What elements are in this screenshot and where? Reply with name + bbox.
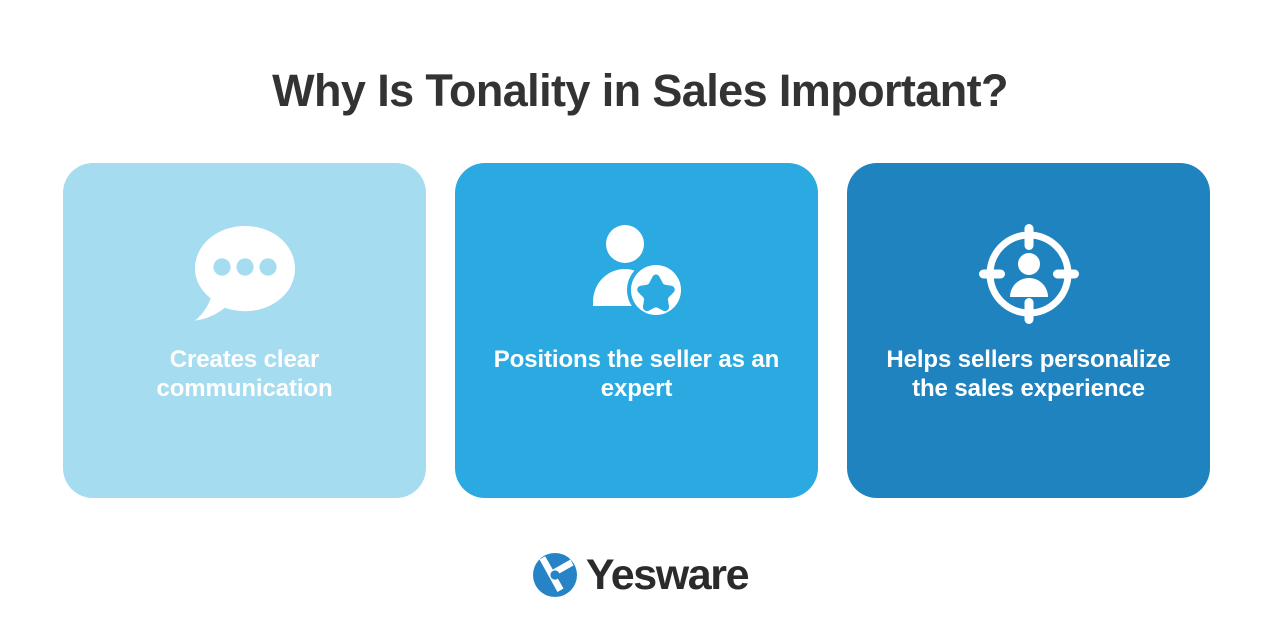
card-icon-container [63,221,426,326]
infographic-page: Why Is Tonality in Sales Important? Crea… [0,0,1280,641]
speech-bubble-dots-icon [193,224,297,324]
page-title: Why Is Tonality in Sales Important? [0,62,1280,120]
card-icon-container [455,221,818,326]
benefit-card-positions-seller-as-expert: Positions the seller as an expert [455,163,818,498]
card-label: Creates clear communication [83,345,406,403]
benefit-card-helps-sellers-personalize: Helps sellers personalize the sales expe… [847,163,1210,498]
yesware-wordmark: Yesware [586,552,748,598]
card-label: Helps sellers personalize the sales expe… [867,345,1190,403]
card-icon-container [847,221,1210,326]
yesware-logo: Yesware [0,545,1280,605]
benefit-card-creates-clear-communication: Creates clear communication [63,163,426,498]
card-label: Positions the seller as an expert [475,345,798,403]
yesware-y-circle-icon [532,552,578,598]
benefit-cards-row: Creates clear communication Positions th… [63,163,1210,498]
person-star-badge-icon [587,224,687,324]
target-person-icon [977,222,1081,326]
